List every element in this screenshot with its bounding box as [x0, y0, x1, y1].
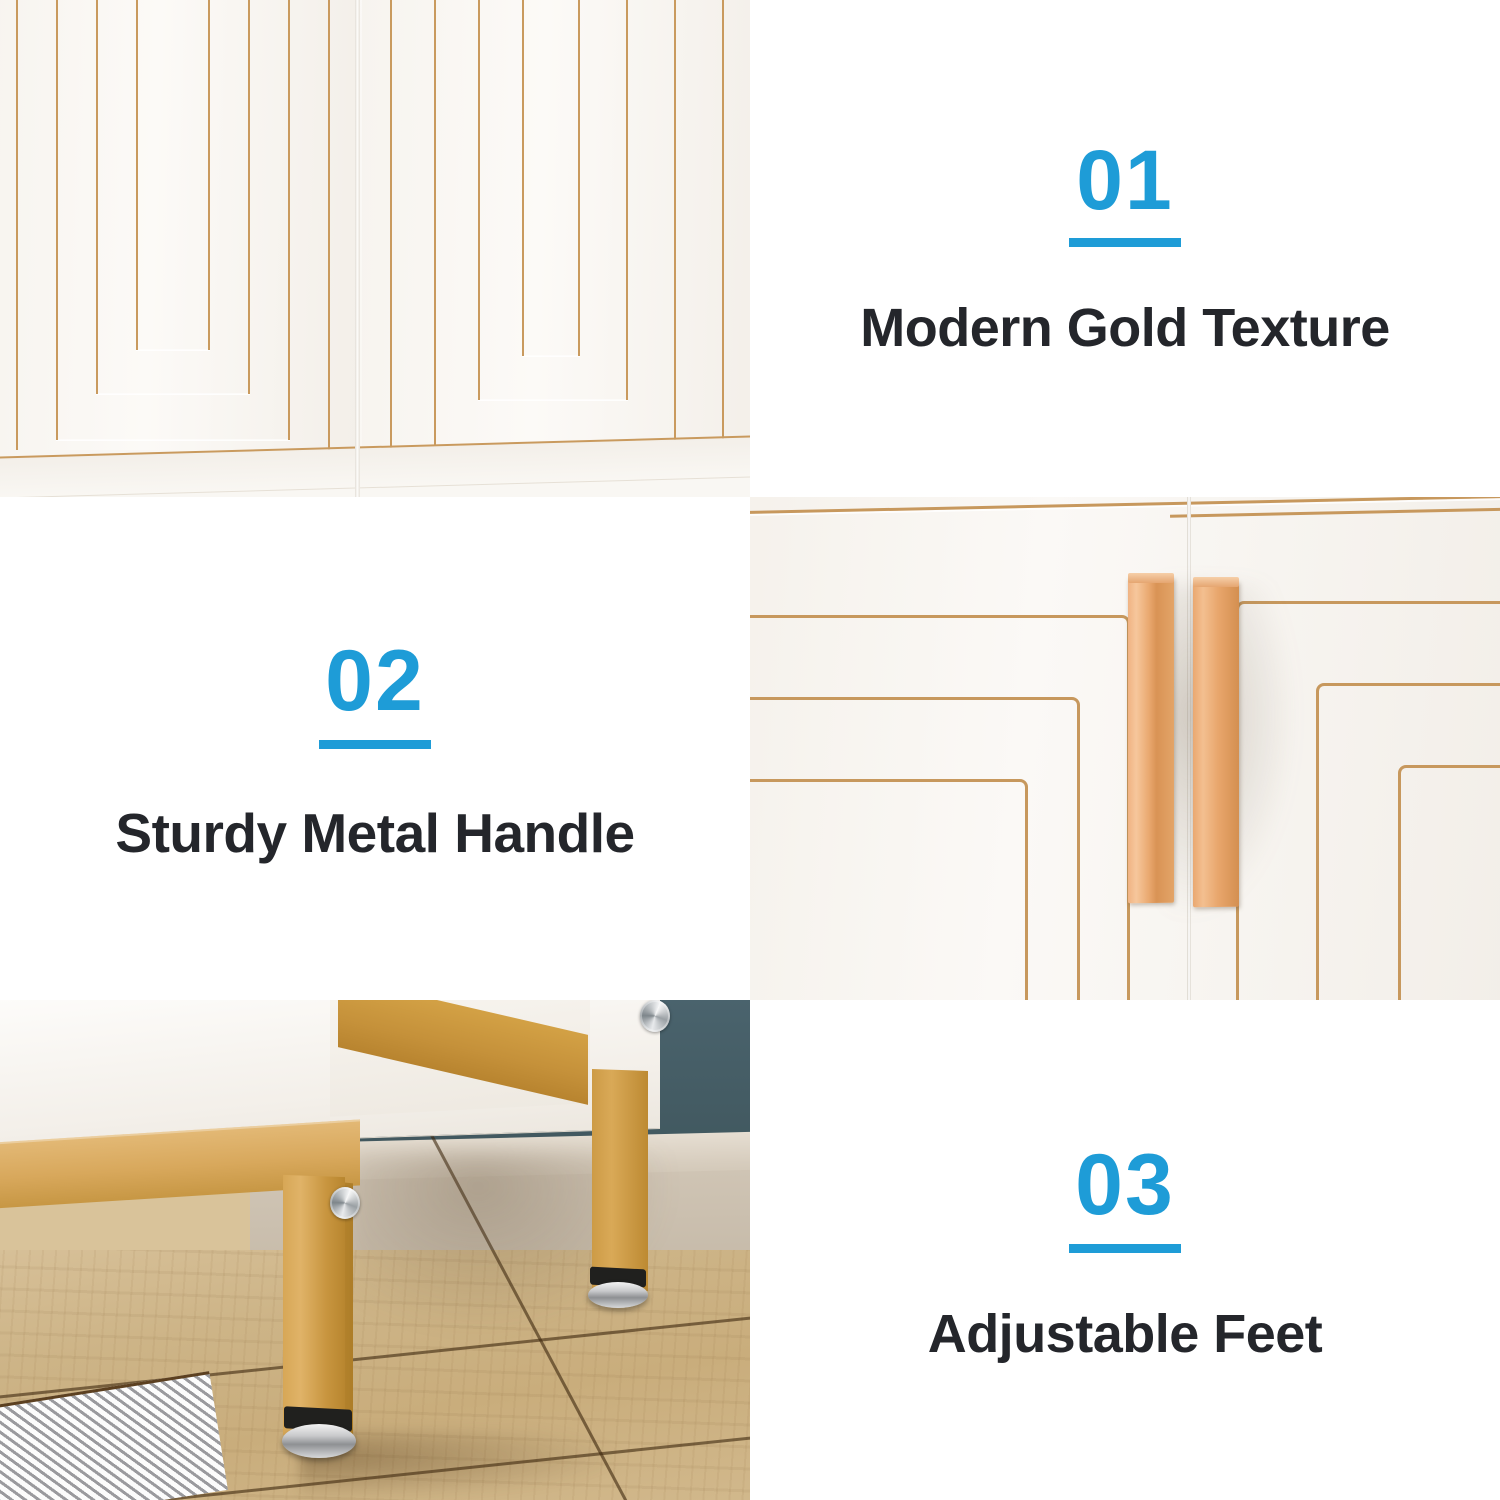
feature-card-02: 02 Sturdy Metal Handle: [0, 497, 750, 1000]
feature-title-01: Modern Gold Texture: [860, 297, 1390, 359]
leg-scene: [0, 1000, 750, 1500]
door-right: [362, 0, 750, 450]
adjustable-foot-back: [588, 1282, 648, 1308]
feature-collage: 01 Modern Gold Texture 02 Sturdy Metal H…: [0, 0, 1500, 1500]
door-left: [0, 0, 358, 450]
adjustable-feet-photo: [0, 1000, 750, 1500]
doors-surface: [0, 0, 750, 497]
feature-title-02: Sturdy Metal Handle: [115, 801, 634, 865]
feature-underline-03: [1069, 1244, 1181, 1253]
feature-number-02: 02: [325, 638, 425, 736]
gold-groove-left: [750, 779, 1028, 1000]
handle-cap-left: [1128, 573, 1174, 583]
adjustable-foot-front: [282, 1424, 356, 1458]
screw-icon: [640, 1000, 670, 1032]
cabinet-doors-photo: [0, 0, 750, 497]
feature-title-03: Adjustable Feet: [928, 1303, 1323, 1365]
metal-handle-photo: [750, 497, 1500, 1000]
feature-number-03: 03: [1075, 1142, 1175, 1240]
handle-scene: [750, 497, 1500, 1000]
feature-number-01: 01: [1076, 138, 1173, 234]
door-seam: [355, 0, 360, 497]
handle-bar-left: [1128, 577, 1174, 903]
leg-back: [592, 1069, 648, 1291]
handle-bar-right: [1193, 581, 1239, 907]
gold-groove: [136, 0, 210, 350]
feature-underline-01: [1069, 238, 1181, 247]
feature-underline-02: [319, 740, 431, 749]
feature-card-01: 01 Modern Gold Texture: [750, 0, 1500, 497]
gold-groove: [522, 0, 580, 356]
feature-card-03: 03 Adjustable Feet: [750, 1000, 1500, 1500]
gold-groove-right: [1398, 765, 1500, 1000]
handle-cap-right: [1193, 577, 1239, 587]
screw-icon: [330, 1187, 360, 1219]
